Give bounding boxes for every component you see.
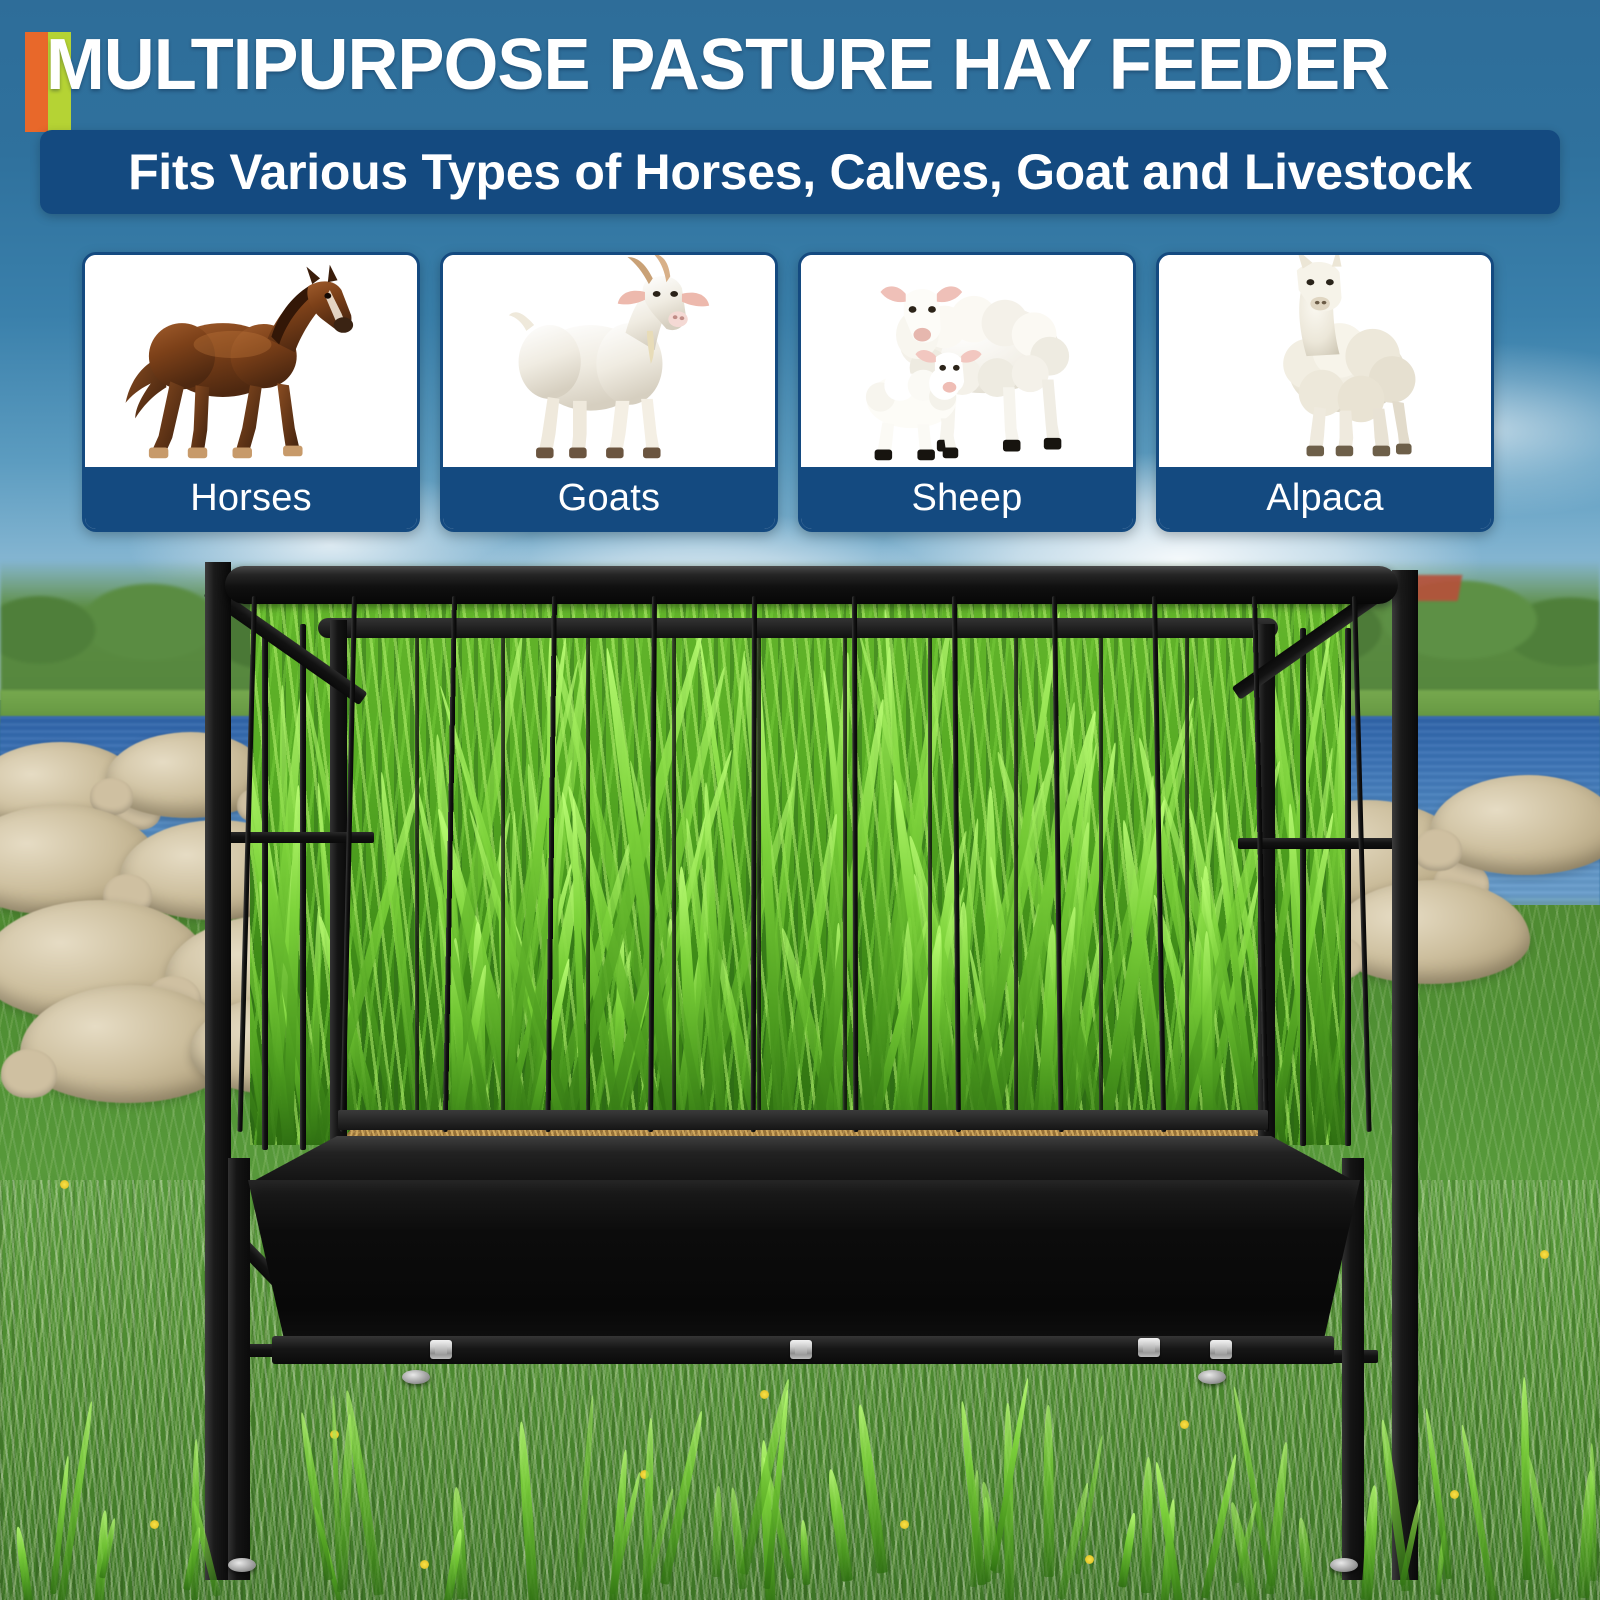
foreground-grass-blade (1296, 1517, 1316, 1600)
hay-feeder-product (0, 0, 1600, 1600)
rear-vertical-bar (1014, 632, 1018, 1118)
foreground-grass-blade (854, 1404, 887, 1574)
goat-icon (443, 255, 775, 467)
leveling-foot (1198, 1370, 1226, 1384)
foreground-grass-blade (1043, 1405, 1053, 1577)
foreground-grass-blade (1361, 1485, 1380, 1600)
foreground-grass-blade (14, 1527, 33, 1600)
top-rail-tube (225, 566, 1398, 604)
hex-bolt (1210, 1340, 1232, 1359)
animal-card-label: Sheep (801, 467, 1133, 529)
foreground-grass-blade (1141, 1457, 1154, 1593)
right-side-bar (1300, 628, 1306, 1146)
page-title: MULTIPURPOSE PASTURE HAY FEEDER (46, 28, 1536, 103)
foreground-grass-blade (1118, 1512, 1137, 1587)
hex-bolt (430, 1340, 452, 1359)
accent-stripe-orange (25, 32, 48, 132)
foreground-grass-blade (660, 1410, 706, 1585)
rear-vertical-bar (501, 632, 505, 1118)
subtitle-banner: Fits Various Types of Horses, Calves, Go… (40, 130, 1560, 214)
foreground-grass-blade (191, 1439, 200, 1600)
right-outer-post (1392, 570, 1418, 1580)
rear-top-rail (318, 618, 1278, 638)
rear-vertical-bar (672, 632, 676, 1118)
hex-bolt (1138, 1338, 1160, 1357)
foreground-grass-blade (1424, 1408, 1453, 1579)
rear-vertical-bar (843, 632, 847, 1118)
left-side-bar (262, 624, 268, 1150)
leveling-foot (402, 1370, 430, 1384)
left-side-bar (300, 624, 306, 1150)
animal-card-alpaca[interactable]: Alpaca (1156, 252, 1494, 532)
hex-bolt (790, 1340, 812, 1359)
animal-card-label: Alpaca (1159, 467, 1491, 529)
foreground-grass-blade (1458, 1424, 1497, 1600)
animal-card-label: Horses (85, 467, 417, 529)
trough-front-panel (248, 1180, 1360, 1352)
right-mid-rail (1238, 838, 1403, 849)
foreground-grass-blade (1588, 1443, 1596, 1581)
foreground-grass-blade (712, 1486, 722, 1578)
foreground-grass-blade (799, 1520, 809, 1585)
animal-card-row: Horses Goats (0, 252, 1600, 534)
rear-vertical-bar (757, 632, 761, 1118)
right-side-bar (1345, 628, 1351, 1146)
foreground-grass-blade (297, 1412, 332, 1581)
leveling-foot (228, 1558, 256, 1572)
rear-vertical-bar (1099, 632, 1103, 1118)
foreground-grass-blade (575, 1395, 596, 1590)
trough-back-lip (338, 1110, 1268, 1130)
rear-vertical-bar (1185, 632, 1189, 1118)
animal-card-label: Goats (443, 467, 775, 529)
foreground-grass-blade (729, 1487, 747, 1590)
leveling-foot (1330, 1558, 1358, 1572)
foreground-grass-blade (1057, 1482, 1092, 1600)
trough-top-rim (248, 1136, 1360, 1184)
horse-icon (85, 255, 417, 467)
foreground-grass-blade (516, 1421, 539, 1600)
grass-blade (869, 647, 896, 1145)
animal-card-sheep[interactable]: Sheep (798, 252, 1136, 532)
rear-vertical-bar (928, 632, 932, 1118)
animal-card-horses[interactable]: Horses (82, 252, 420, 532)
alpaca-icon (1159, 255, 1491, 467)
animal-card-goats[interactable]: Goats (440, 252, 778, 532)
left-front-leg (228, 1158, 250, 1580)
foreground-grass-blade (1265, 1442, 1291, 1596)
rear-vertical-bar (586, 632, 590, 1118)
rear-vertical-bar (415, 632, 419, 1118)
subtitle-text: Fits Various Types of Horses, Calves, Go… (128, 143, 1472, 201)
foreground-grass-blade (825, 1468, 852, 1581)
feeder-vertical-bar (1352, 596, 1372, 1132)
sheep-icon (801, 255, 1133, 467)
